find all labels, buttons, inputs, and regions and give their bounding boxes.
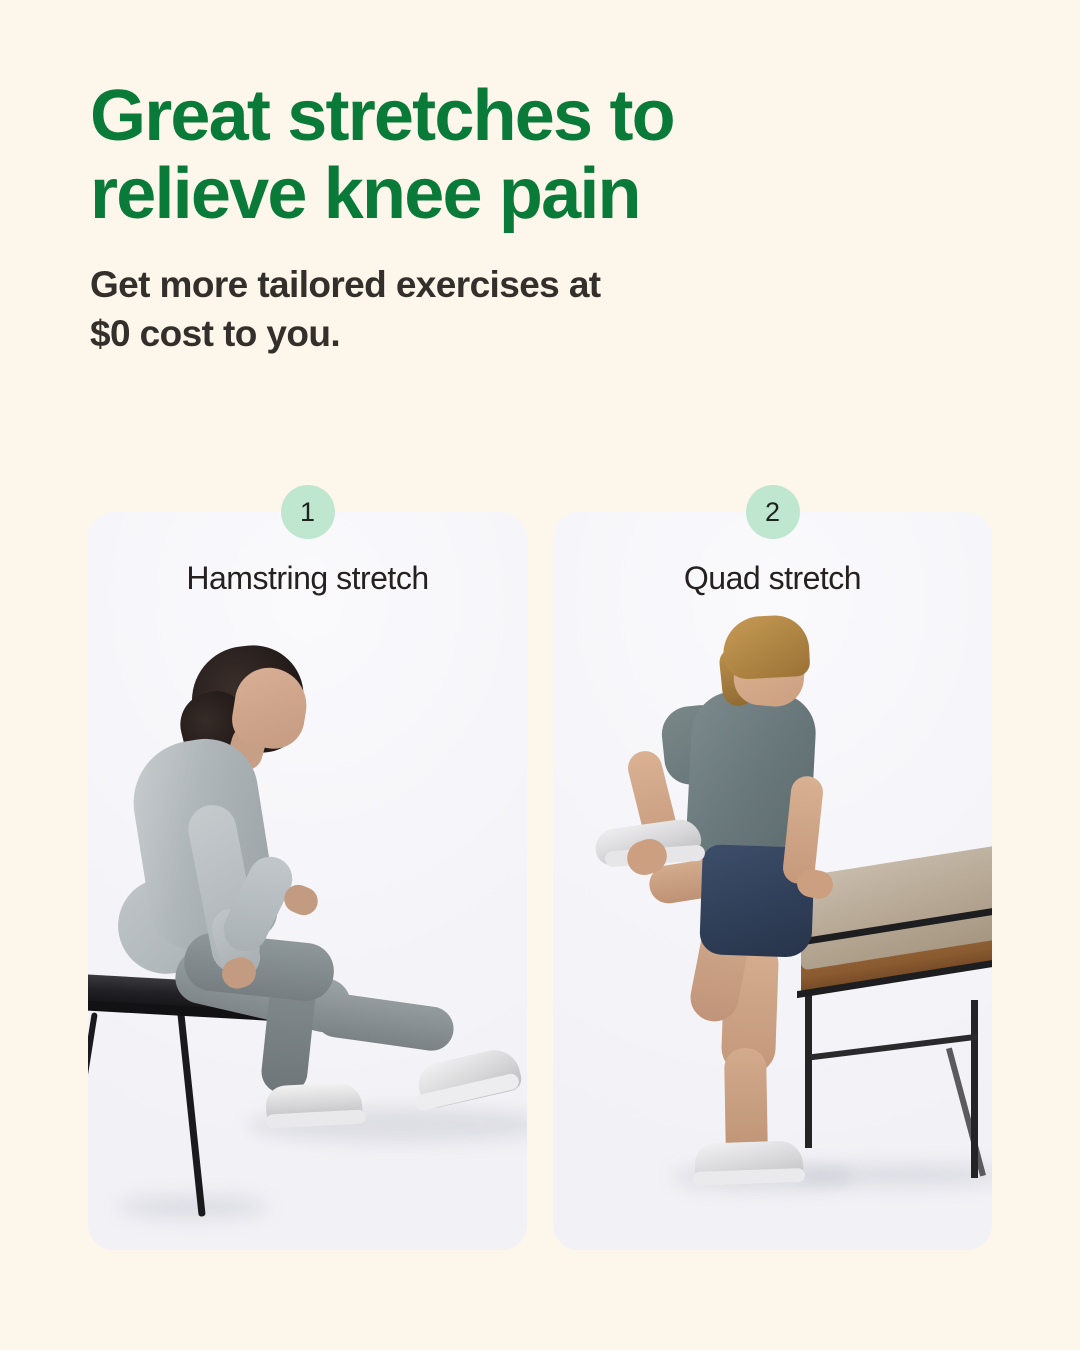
page-subtitle: Get more tailored exercises at $0 cost t… [90,260,990,358]
bench-shadow-icon [118,1196,268,1218]
exercise-photo-quad-stretch [553,608,992,1250]
exercise-title-quad-stretch: Quad stretch [553,560,992,597]
poster-canvas: Great stretches to relieve knee pain Get… [0,0,1080,1350]
header: Great stretches to relieve knee pain Get… [90,78,990,358]
card-surface [553,512,992,1250]
exercise-card-quad-stretch[interactable]: 2 Quad stretch [553,512,992,1250]
exercise-step-badge-1: 1 [281,485,335,539]
desk-leg-back-icon [971,1000,978,1178]
exercise-step-badge-2: 2 [746,485,800,539]
bench-leg-front-icon [177,1012,205,1217]
hair-icon [721,614,810,680]
card-surface [88,512,527,1250]
page-title: Great stretches to relieve knee pain [90,78,990,234]
exercise-card-hamstring-stretch[interactable]: 1 Hamstring stretch [88,512,527,1250]
desk-brace-icon [946,1047,986,1176]
extended-shin-icon [312,990,457,1053]
exercise-card-list: 1 Hamstring stretch [88,512,992,1250]
exercise-title-hamstring-stretch: Hamstring stretch [88,560,527,597]
bench-leg-back-icon [88,1012,98,1112]
exercise-photo-hamstring-stretch [88,608,527,1250]
